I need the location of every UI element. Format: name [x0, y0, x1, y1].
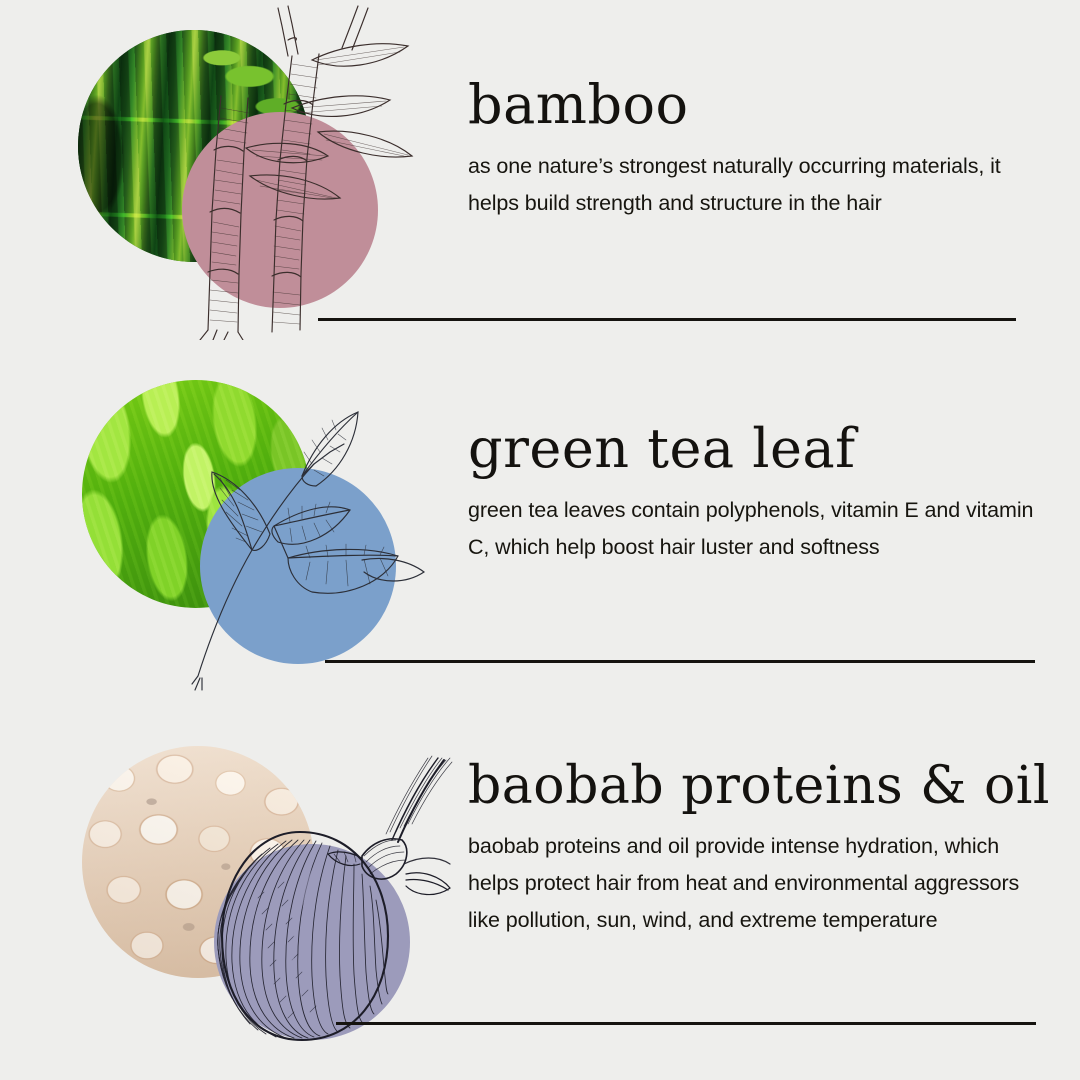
green-tea-description: green tea leaves contain polyphenols, vi… — [468, 492, 1048, 566]
section-divider-bamboo — [318, 318, 1016, 321]
bamboo-copy: bamboo as one nature’s strongest natural… — [468, 78, 1048, 222]
ingredients-infographic: bamboo as one nature’s strongest natural… — [0, 0, 1080, 1080]
bamboo-accent-circle — [182, 112, 378, 308]
green-tea-accent-circle — [200, 468, 396, 664]
green-tea-artwork-cluster — [62, 360, 462, 700]
baobab-heading: baobab proteins & oil — [468, 760, 1048, 812]
bamboo-artwork-cluster — [60, 0, 460, 340]
baobab-artwork-cluster — [62, 728, 462, 1068]
section-divider-green-tea — [325, 660, 1035, 663]
baobab-description: baobab proteins and oil provide intense … — [468, 828, 1048, 939]
bamboo-description: as one nature’s strongest naturally occu… — [468, 148, 1048, 222]
ingredient-section-bamboo: bamboo as one nature’s strongest natural… — [0, 0, 1080, 360]
green-tea-heading: green tea leaf — [468, 422, 1048, 476]
baobab-accent-circle — [214, 844, 410, 1040]
bamboo-heading: bamboo — [468, 78, 1048, 132]
section-divider-baobab — [336, 1022, 1036, 1025]
ingredient-section-baobab: baobab proteins & oil baobab proteins an… — [0, 700, 1080, 1080]
ingredient-section-green-tea-leaf: green tea leaf green tea leaves contain … — [0, 350, 1080, 700]
baobab-copy: baobab proteins & oil baobab proteins an… — [468, 760, 1048, 939]
green-tea-copy: green tea leaf green tea leaves contain … — [468, 422, 1048, 566]
